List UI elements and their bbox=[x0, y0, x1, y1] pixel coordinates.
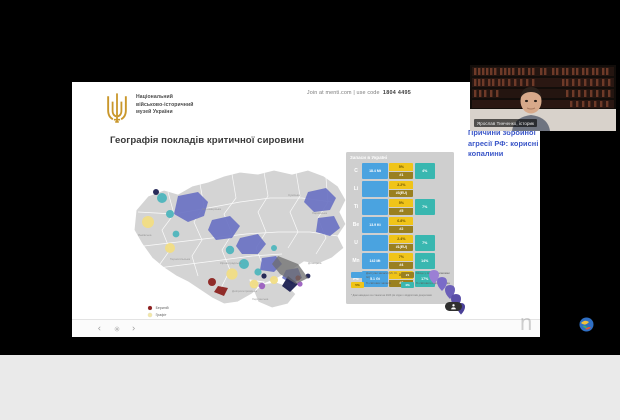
world-rank: #4 bbox=[389, 262, 413, 270]
table-row: Li 2.2% #3(EU) bbox=[350, 181, 450, 197]
world-share: 7% bbox=[389, 253, 413, 261]
reserve-value bbox=[362, 181, 388, 197]
trident-emblem-icon bbox=[104, 92, 130, 124]
world-rank: #5 bbox=[389, 208, 413, 216]
globe-brand-icon bbox=[578, 316, 595, 333]
reserve-value: 18.4 Mt bbox=[362, 163, 388, 179]
svg-text:Тернопільська: Тернопільська bbox=[170, 257, 190, 261]
production-share bbox=[415, 217, 435, 233]
legend-chip-label: % світових запасів bbox=[366, 282, 391, 286]
menti-code: 1804 4495 bbox=[383, 90, 411, 96]
world-share: 5% bbox=[389, 199, 413, 207]
legend-chip-share: 5% bbox=[351, 282, 364, 288]
legend-item: Графіт bbox=[148, 312, 253, 319]
menti-prefix: Join at menti.com | use code bbox=[307, 90, 380, 96]
slide-side-heading: Причини збройної агресії РФ: корисні коп… bbox=[468, 128, 540, 160]
person-pin-icon bbox=[445, 302, 462, 311]
production-share: 4% bbox=[415, 163, 435, 179]
table-legend-item: 5% % світових запасів bbox=[351, 282, 401, 288]
element-symbol: C bbox=[350, 163, 362, 179]
element-symbol: Ti bbox=[350, 199, 362, 215]
world-share: 5% bbox=[389, 163, 413, 171]
share-group: 2.2% #3(EU) bbox=[389, 181, 413, 197]
slide-title: Географія покладів критичної сировини bbox=[110, 135, 360, 146]
reserve-value: 13.9 Kt bbox=[362, 217, 388, 233]
table-header: Запаси в Україні bbox=[350, 155, 387, 160]
reserve-value bbox=[362, 199, 388, 215]
svg-text:Херсонська: Херсонська bbox=[252, 297, 269, 301]
menti-join-line: Join at menti.com | use code 1804 4495 bbox=[244, 90, 474, 96]
page-background bbox=[0, 355, 620, 420]
world-share: 2.4% bbox=[389, 235, 413, 243]
share-group: 7% #4 bbox=[389, 253, 413, 269]
legend-chip-rank: #1 bbox=[401, 272, 414, 278]
legend-chip-label: Доступні запаси (Mt, Kt, Gt) bbox=[366, 272, 401, 280]
reserve-value: 142 Mt bbox=[362, 253, 388, 269]
production-share bbox=[415, 181, 435, 197]
svg-text:Дніпропетровська: Дніпропетровська bbox=[232, 289, 257, 293]
production-share: 14% bbox=[415, 253, 435, 269]
table-row: C 18.4 Mt 5% #1 4% bbox=[350, 163, 450, 179]
svg-text:Донецька: Донецька bbox=[308, 261, 322, 265]
legend-swatch-icon bbox=[148, 313, 152, 317]
element-symbol: Mn bbox=[350, 253, 362, 269]
map-pin-cluster-icon bbox=[428, 268, 470, 320]
share-group: 6.8% #2 bbox=[389, 217, 413, 233]
table-row: U 2.4% #1(EU) 7% bbox=[350, 235, 450, 251]
world-rank: #1 bbox=[389, 172, 413, 180]
museum-name: Національний військово-історичний музей … bbox=[136, 94, 266, 117]
svg-text:Сумська: Сумська bbox=[288, 193, 300, 197]
legend-chip-production: 4% bbox=[401, 282, 414, 288]
legend-label: Графіт bbox=[156, 314, 167, 318]
screen-share-video-stage[interactable]: Національний військово-історичний музей … bbox=[0, 0, 620, 355]
share-group: 5% #5 bbox=[389, 199, 413, 215]
participant-name-label: Ярослав Тинченко, історик bbox=[474, 119, 537, 127]
chevron-right-icon[interactable] bbox=[129, 324, 138, 333]
svg-text:Житомирська: Житомирська bbox=[202, 207, 221, 211]
gear-icon[interactable] bbox=[112, 324, 121, 333]
table-row: Be 13.9 Kt 6.8% #2 bbox=[350, 217, 450, 233]
chevron-left-icon[interactable] bbox=[95, 324, 104, 333]
svg-text:Кіровоградська: Кіровоградська bbox=[220, 261, 242, 265]
svg-text:Харківська: Харківська bbox=[312, 211, 327, 215]
production-share: 7% bbox=[415, 199, 435, 215]
overlay-watermark: n bbox=[520, 310, 533, 336]
world-share: 2.2% bbox=[389, 181, 413, 189]
element-symbol: Li bbox=[350, 181, 362, 197]
world-rank: #3(EU) bbox=[389, 190, 413, 198]
reserve-value bbox=[362, 235, 388, 251]
share-group: 5% #1 bbox=[389, 163, 413, 179]
table-row: Mn 142 Mt 7% #4 14% bbox=[350, 253, 450, 269]
legend-label: Берилій bbox=[156, 307, 169, 311]
share-group: 2.4% #1(EU) bbox=[389, 235, 413, 251]
slide-toolbar bbox=[72, 319, 540, 337]
element-symbol: Be bbox=[350, 217, 362, 233]
ukraine-deposits-map[interactable]: Львівська Тернопільська Житомирська Кіро… bbox=[112, 152, 362, 332]
participant-video-tile[interactable]: Ярослав Тинченко, історик bbox=[470, 65, 616, 131]
table-legend-item: Доступні запаси (Mt, Kt, Gt) bbox=[351, 272, 401, 280]
legend-swatch-icon bbox=[148, 306, 152, 310]
world-rank: #2 bbox=[389, 226, 413, 234]
museum-logo-lockup: Національний військово-історичний музей … bbox=[104, 92, 274, 126]
world-rank: #1(EU) bbox=[389, 244, 413, 252]
legend-item: Берилій bbox=[148, 305, 253, 312]
svg-text:Львівська: Львівська bbox=[138, 233, 152, 237]
legend-chip-reserve bbox=[351, 272, 364, 278]
element-symbol: U bbox=[350, 235, 362, 251]
production-share: 7% bbox=[415, 235, 435, 251]
world-share: 6.8% bbox=[389, 217, 413, 225]
table-row: Ti 5% #5 7% bbox=[350, 199, 450, 215]
